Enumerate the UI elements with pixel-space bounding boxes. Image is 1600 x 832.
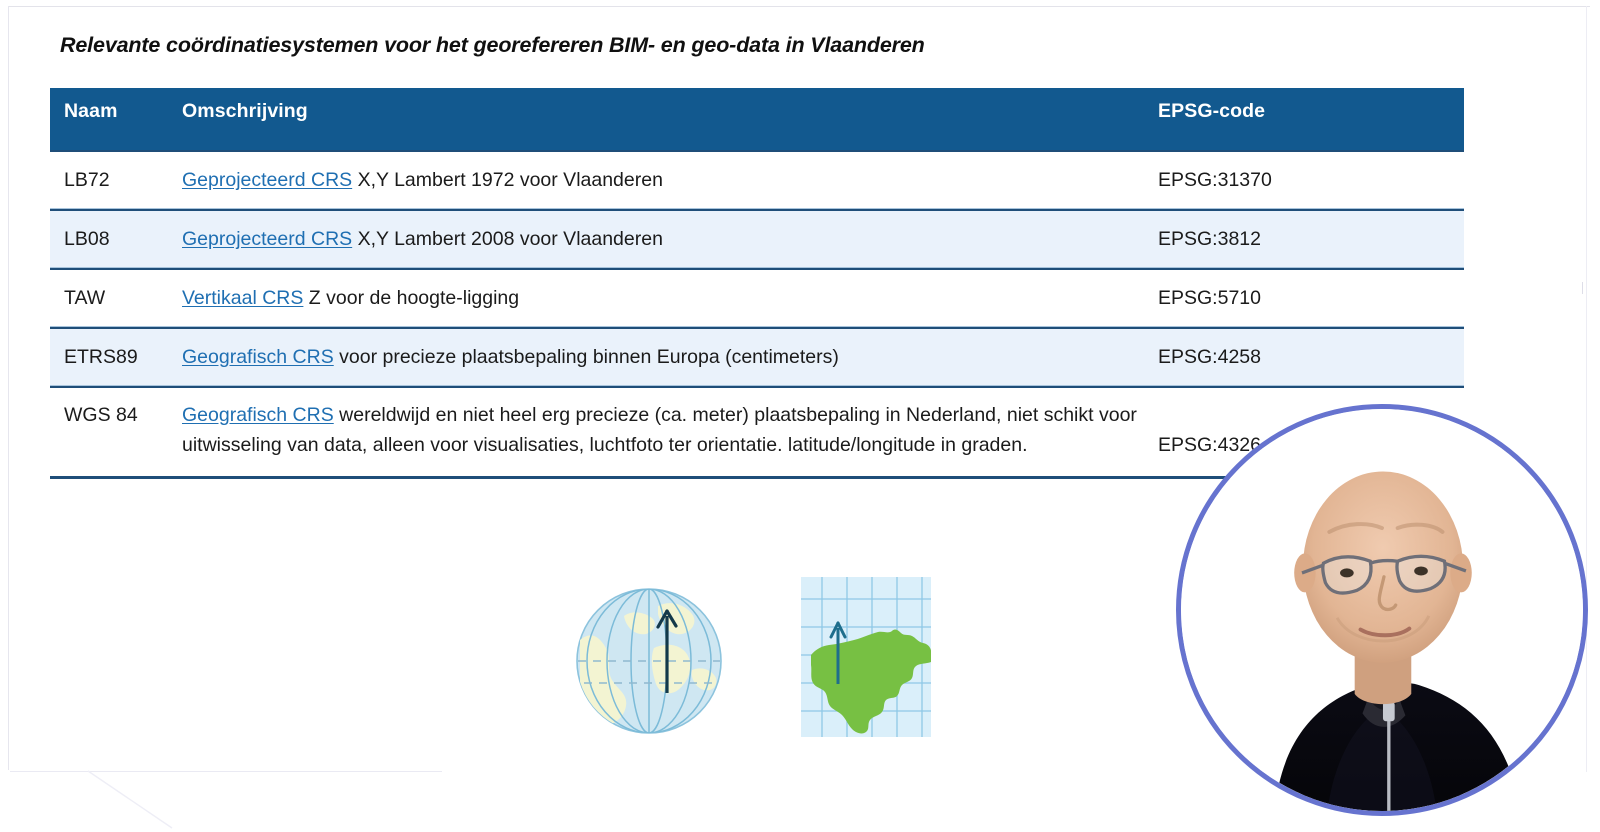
cell-omschrijving: Geprojecteerd CRS X,Y Lambert 1972 voor … — [182, 152, 1158, 208]
slide-corner-fold — [88, 770, 208, 832]
crs-type-link[interactable]: Geografisch CRS — [182, 404, 334, 426]
slide-border-bottom — [10, 771, 442, 772]
cell-omschrijving: Geografisch CRS wereldwijd en niet heel … — [182, 388, 1158, 476]
cell-epsg-code: EPSG:4258 — [1158, 329, 1464, 385]
cell-omschrijving: Geografisch CRS voor precieze plaatsbepa… — [182, 329, 1158, 385]
cell-naam: TAW — [50, 270, 182, 326]
table-row: ETRS89 Geografisch CRS voor precieze pla… — [50, 327, 1464, 386]
cell-omschrijving: Vertikaal CRS Z voor de hoogte-ligging — [182, 270, 1158, 326]
slide-canvas: Relevante coördinatiesystemen voor het g… — [0, 0, 1600, 832]
column-header-naam: Naam — [50, 88, 182, 123]
presenter-portrait — [1181, 409, 1583, 811]
cell-description-text: Z voor de hoogte-ligging — [303, 287, 519, 309]
cell-naam: LB08 — [50, 211, 182, 267]
cell-description-text: X,Y Lambert 2008 voor Vlaanderen — [352, 228, 663, 250]
cell-naam: WGS 84 — [50, 388, 182, 446]
cell-epsg-code: EPSG:3812 — [1158, 211, 1464, 267]
presenter-video-bubble[interactable] — [1176, 404, 1588, 816]
crs-type-link[interactable]: Vertikaal CRS — [182, 287, 303, 309]
cell-naam: LB72 — [50, 152, 182, 208]
table-header-row: Naam Omschrijving EPSG-code — [50, 88, 1464, 150]
slide-edge-tick — [1582, 282, 1587, 294]
cell-epsg-code: EPSG:31370 — [1158, 152, 1464, 208]
table-row: TAW Vertikaal CRS Z voor de hoogte-liggi… — [50, 268, 1464, 327]
cell-description-text: voor precieze plaatsbepaling binnen Euro… — [334, 346, 839, 368]
column-header-omschrijving: Omschrijving — [182, 88, 1158, 123]
cell-naam: ETRS89 — [50, 329, 182, 385]
crs-type-link[interactable]: Geprojecteerd CRS — [182, 228, 352, 250]
column-header-epsg: EPSG-code — [1158, 88, 1464, 123]
cell-epsg-code: EPSG:5710 — [1158, 270, 1464, 326]
crs-type-link[interactable]: Geprojecteerd CRS — [182, 169, 352, 191]
slide-border-left — [8, 6, 9, 770]
page-title: Relevante coördinatiesystemen voor het g… — [60, 33, 925, 58]
table-row: LB08 Geprojecteerd CRS X,Y Lambert 2008 … — [50, 209, 1464, 268]
table-row: LB72 Geprojecteerd CRS X,Y Lambert 1972 … — [50, 150, 1464, 209]
globe-icon — [566, 578, 732, 744]
cell-omschrijving: Geprojecteerd CRS X,Y Lambert 2008 voor … — [182, 211, 1158, 267]
crs-type-link[interactable]: Geografisch CRS — [182, 346, 334, 368]
slide-border-right — [1586, 6, 1587, 772]
belgium-map-icon — [800, 576, 932, 738]
slide-border-top — [8, 6, 1590, 7]
cell-description-text: X,Y Lambert 1972 voor Vlaanderen — [352, 169, 663, 191]
